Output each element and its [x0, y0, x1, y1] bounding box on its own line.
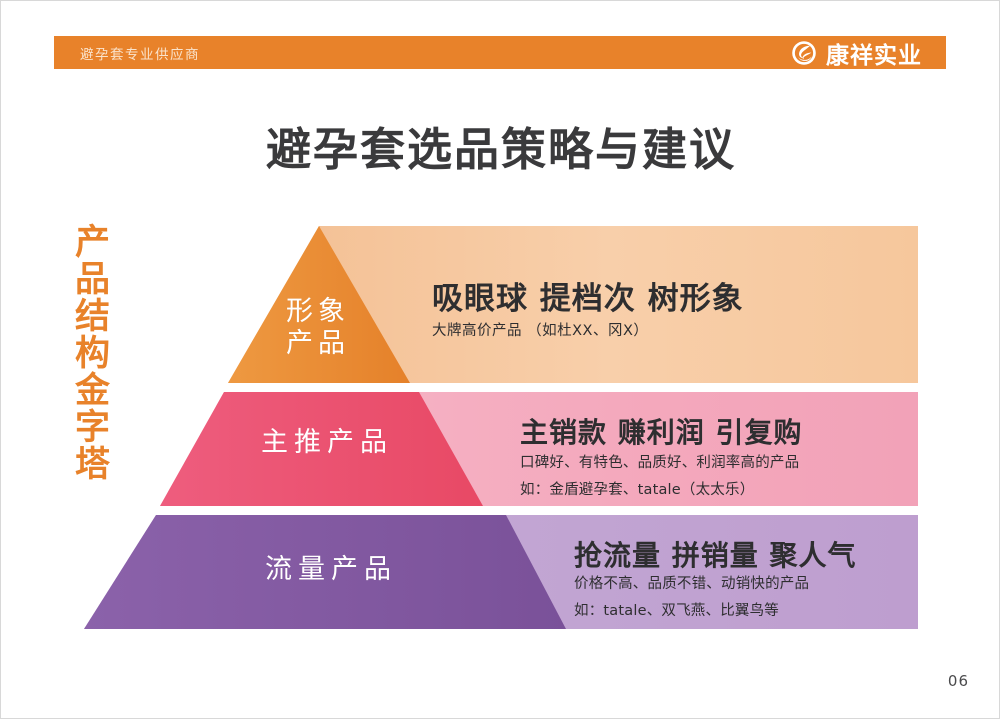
pyramid-diagram — [1, 1, 1000, 719]
tier-1-label-line1: 形象 — [263, 296, 373, 328]
brand-name: 康祥实业 — [826, 36, 922, 70]
tier-3-subline-2: 如：tatale、双飞燕、比翼鸟等 — [574, 599, 779, 620]
page-title: 避孕套选品策略与建议 — [1, 113, 1000, 178]
tier-2-subline-1: 口碑好、有特色、品质好、利润率高的产品 — [520, 451, 799, 472]
tier-1-subline-1: 大牌高价产品 （如杜XX、冈X） — [432, 319, 648, 340]
tier-2-heading: 主销款 赚利润 引复购 — [520, 411, 803, 451]
tier-3-label: 流量产品 — [241, 554, 421, 586]
header-bar: 避孕套专业供应商 康祥实业 — [54, 36, 946, 69]
tier-1-label-line2: 产品 — [263, 328, 373, 360]
tier-3-subline-1: 价格不高、品质不错、动销快的产品 — [574, 572, 809, 593]
leaf-swirl-logo-icon — [791, 40, 817, 66]
page-number: 06 — [948, 672, 969, 690]
header-tagline: 避孕套专业供应商 — [54, 43, 200, 63]
brand-logo: 康祥实业 — [791, 36, 946, 70]
slide-canvas: 避孕套专业供应商 康祥实业 避孕套选品策略与建议 产品结构金字塔 — [0, 0, 1000, 719]
tier-1-heading: 吸眼球 提档次 树形象 — [432, 273, 744, 318]
tier-2-subline-2: 如：金盾避孕套、tatale（太太乐） — [520, 478, 754, 499]
tier-1-label: 形象 产品 — [263, 296, 373, 360]
side-vertical-label: 产品结构金字塔 — [62, 223, 108, 482]
tier-2-label: 主推产品 — [237, 427, 417, 459]
tier-3-heading: 抢流量 拼销量 聚人气 — [574, 534, 857, 574]
